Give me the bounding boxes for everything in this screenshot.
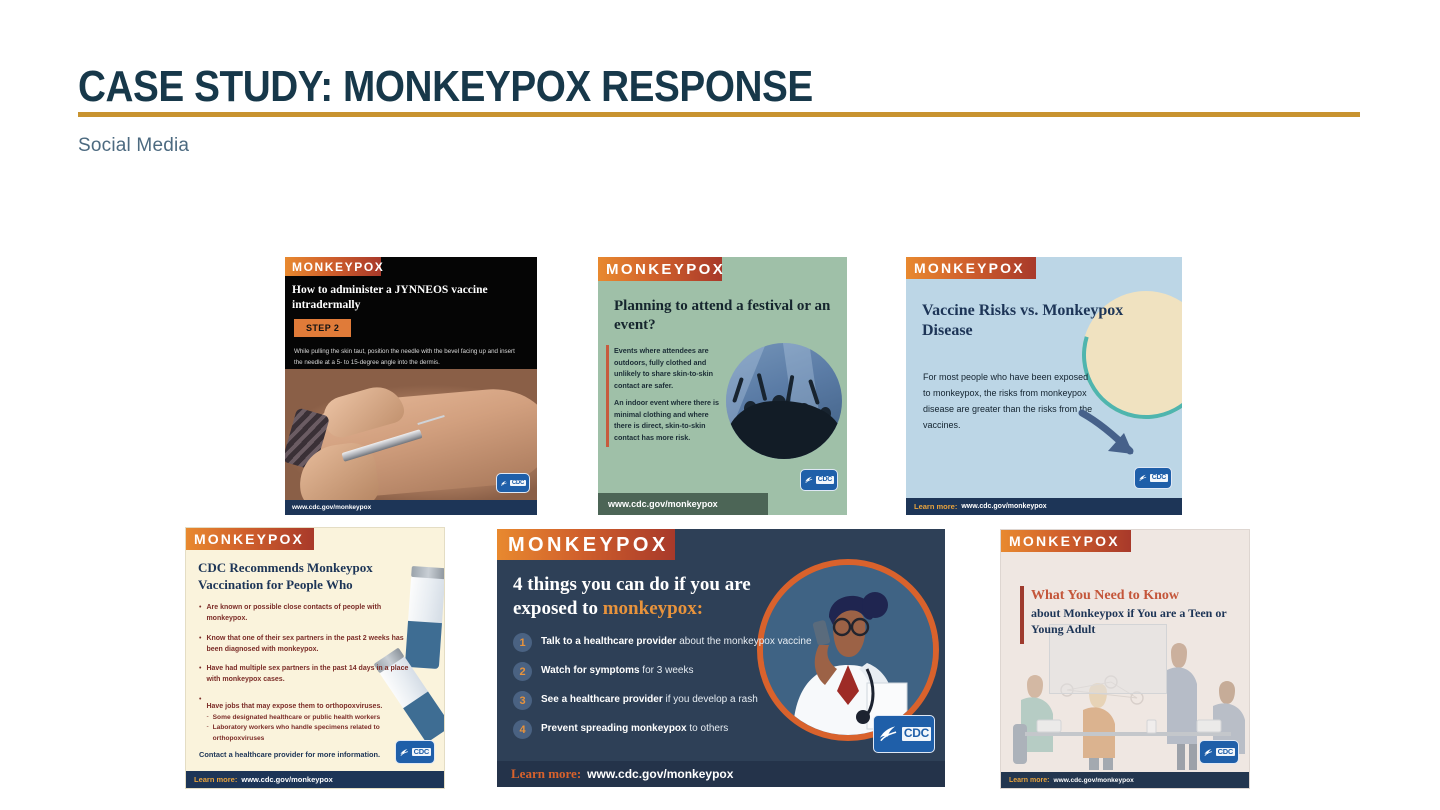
list-item: • Are known or possible close contacts o… [199, 603, 414, 625]
page-subtitle: Social Media [78, 135, 189, 157]
list-item-text: Know that one of their sex partners in t… [206, 634, 414, 656]
monkeypox-banner-label: MONKEYPOX [194, 532, 304, 546]
step-text-bold: See a healthcare provider [541, 694, 663, 705]
list-item: 1 Talk to a healthcare provider about th… [513, 633, 833, 652]
hhs-eagle-icon [1138, 471, 1148, 485]
list-item: • Have had multiple sex partners in the … [199, 664, 414, 686]
footer-url[interactable]: www.cdc.gov/monkeypox [292, 504, 371, 511]
step-text: Talk to a healthcare provider about the … [541, 633, 812, 649]
sub-list-item: - Laboratory workers who handle specimen… [206, 723, 414, 743]
card-footer: www.cdc.gov/monkeypox [598, 493, 768, 515]
card-vaccine-risks[interactable]: MONKEYPOX Vaccine Risks vs. Monkeypox Di… [906, 257, 1182, 515]
cdc-wordmark: CDC [902, 727, 931, 741]
list-item: • Know that one of their sex partners in… [199, 634, 414, 656]
card-heading-primary: What You Need to Know [1031, 588, 1179, 604]
cdc-wordmark: CDC [1150, 474, 1168, 482]
page-title: CASE STUDY: MONKEYPOX RESPONSE [78, 62, 813, 112]
card-paragraph-1: Events where attendees are outdoors, ful… [614, 345, 722, 392]
monkeypox-banner: MONKEYPOX [598, 257, 722, 281]
monkeypox-banner: MONKEYPOX [906, 257, 1036, 279]
step-number-badge: 3 [513, 691, 532, 710]
bullet-icon: • [199, 634, 201, 656]
monkeypox-banner: MONKEYPOX [497, 529, 675, 560]
card-footer: Learn more: www.cdc.gov/monkeypox [906, 498, 1182, 515]
list-item-text: Have had multiple sex partners in the pa… [206, 664, 414, 686]
card-paragraph-2: An indoor event where there is minimal c… [614, 397, 722, 444]
slide-canvas: CASE STUDY: MONKEYPOX RESPONSE Social Me… [0, 0, 1440, 810]
list-item: 2 Watch for symptoms for 3 weeks [513, 662, 833, 681]
footer-learn-more: Learn more: [1009, 777, 1049, 784]
bullet-icon: • [199, 603, 201, 625]
step-text: See a healthcare provider if you develop… [541, 691, 758, 707]
cdc-wordmark: CDC [816, 476, 834, 484]
hhs-eagle-icon [804, 473, 814, 487]
sub-list-item: - Some designated healthcare or public h… [206, 713, 414, 723]
cdc-logo: CDC [496, 473, 530, 493]
card-heading: CDC Recommends Monkeypox Vaccination for… [198, 560, 423, 594]
step-text-bold: Talk to a healthcare provider [541, 636, 676, 647]
sub-list-item-text: Some designated healthcare or public hea… [213, 713, 380, 723]
monkeypox-banner: MONKEYPOX [1001, 530, 1131, 552]
hhs-eagle-icon [399, 745, 410, 760]
sub-list: - Some designated healthcare or public h… [206, 713, 414, 744]
curved-arrow-icon [1078, 407, 1142, 465]
step-badge: STEP 2 [294, 319, 351, 337]
card-jynneos-intradermal[interactable]: MONKEYPOX How to administer a JYNNEOS va… [285, 257, 537, 515]
cdc-wordmark: CDC [412, 748, 431, 757]
monkeypox-banner-label: MONKEYPOX [1009, 534, 1120, 548]
raised-arm [757, 373, 768, 401]
cdc-wordmark: CDC [1216, 748, 1235, 757]
list-item: 3 See a healthcare provider if you devel… [513, 691, 833, 710]
hhs-eagle-icon [877, 722, 900, 746]
cdc-logo: CDC [800, 469, 838, 491]
monkeypox-banner-label: MONKEYPOX [914, 261, 1025, 275]
footer-learn-more: Learn more: [914, 502, 957, 511]
list-item: 4 Prevent spreading monkeypox to others [513, 720, 833, 739]
footer-learn-more: Learn more: [511, 766, 581, 782]
card-heading-secondary: about Monkeypox if You are a Teen or You… [1031, 606, 1241, 638]
card-heading: 4 things you can do if you are exposed t… [513, 573, 813, 621]
crowd-illustration [726, 343, 842, 459]
footer-learn-more: Learn more: [194, 775, 237, 784]
card-footer: Learn more: www.cdc.gov/monkeypox [1001, 772, 1250, 788]
card-footer: Learn more: www.cdc.gov/monkeypox [497, 761, 945, 787]
card-heading: Planning to attend a festival or an even… [614, 297, 839, 334]
contact-note: Contact a healthcare provider for more i… [199, 749, 380, 760]
card-four-things[interactable]: MONKEYPOX 4 things you can do if you are… [497, 529, 945, 787]
list-item-text: Are known or possible close contacts of … [206, 603, 414, 625]
bullet-icon: • [199, 695, 201, 744]
title-divider [78, 112, 1360, 117]
accent-rule [606, 345, 609, 447]
heading-highlight: monkeypox: [603, 598, 703, 619]
list-item-text: Have jobs that may expose them to orthop… [206, 703, 382, 710]
footer-url[interactable]: www.cdc.gov/monkeypox [608, 499, 718, 509]
steps-list: 1 Talk to a healthcare provider about th… [513, 633, 833, 749]
card-body-text: While pulling the skin taut, position th… [294, 347, 518, 369]
monkeypox-banner: MONKEYPOX [186, 528, 314, 550]
card-cdc-recommends[interactable]: MONKEYPOX CDC Recommends Monkeypox Vacci… [185, 527, 445, 789]
recommendation-list: • Are known or possible close contacts o… [199, 603, 414, 753]
step-number-badge: 2 [513, 662, 532, 681]
cdc-wordmark: CDC [510, 480, 526, 487]
card-body-text: For most people who have been exposed to… [923, 369, 1093, 433]
footer-url[interactable]: www.cdc.gov/monkeypox [587, 767, 733, 781]
monkeypox-banner-label: MONKEYPOX [508, 535, 669, 555]
step-text-rest: about the monkeypox vaccine [676, 636, 811, 647]
cdc-logo: CDC [1199, 740, 1239, 764]
monkeypox-banner-label: MONKEYPOX [606, 262, 725, 277]
monkeypox-banner: MONKEYPOX [285, 257, 381, 276]
sub-list-item-text: Laboratory workers who handle specimens … [213, 723, 414, 743]
card-footer: Learn more: www.cdc.gov/monkeypox [186, 771, 445, 788]
cdc-logo: CDC [873, 715, 935, 753]
card-teen-young-adult[interactable]: MONKEYPOX What You Need to Know about Mo… [1000, 529, 1250, 789]
step-text-rest: for 3 weeks [640, 665, 694, 676]
cdc-logo: CDC [395, 740, 435, 764]
step-number-badge: 4 [513, 720, 532, 739]
step-text-rest: to others [687, 723, 729, 734]
dash-icon: - [206, 723, 208, 743]
hhs-eagle-icon [1203, 745, 1214, 760]
step-number-badge: 1 [513, 633, 532, 652]
card-footer: www.cdc.gov/monkeypox [285, 500, 537, 515]
footer-url[interactable]: www.cdc.gov/monkeypox [1053, 777, 1133, 784]
accent-rule [1020, 586, 1024, 644]
footer-url[interactable]: www.cdc.gov/monkeypox [241, 775, 332, 784]
cdc-logo: CDC [1134, 467, 1172, 489]
bullet-icon: • [199, 664, 201, 686]
dash-icon: - [206, 713, 208, 723]
card-heading: Vaccine Risks vs. Monkeypox Disease [922, 301, 1132, 342]
step-text: Watch for symptoms for 3 weeks [541, 662, 693, 678]
hhs-eagle-icon [500, 477, 508, 490]
card-festival-or-event[interactable]: MONKEYPOX Planning to attend a festival … [598, 257, 847, 515]
card-heading: How to administer a JYNNEOS vaccine intr… [292, 283, 507, 313]
list-item: • Have jobs that may expose them to orth… [199, 695, 414, 744]
step-text-bold: Prevent spreading monkeypox [541, 723, 687, 734]
injection-photo [285, 369, 537, 515]
monkeypox-banner-label: MONKEYPOX [292, 261, 384, 273]
step-text: Prevent spreading monkeypox to others [541, 720, 728, 736]
footer-url[interactable]: www.cdc.gov/monkeypox [961, 503, 1046, 510]
step-text-bold: Watch for symptoms [541, 665, 640, 676]
step-text-rest: if you develop a rash [663, 694, 758, 705]
